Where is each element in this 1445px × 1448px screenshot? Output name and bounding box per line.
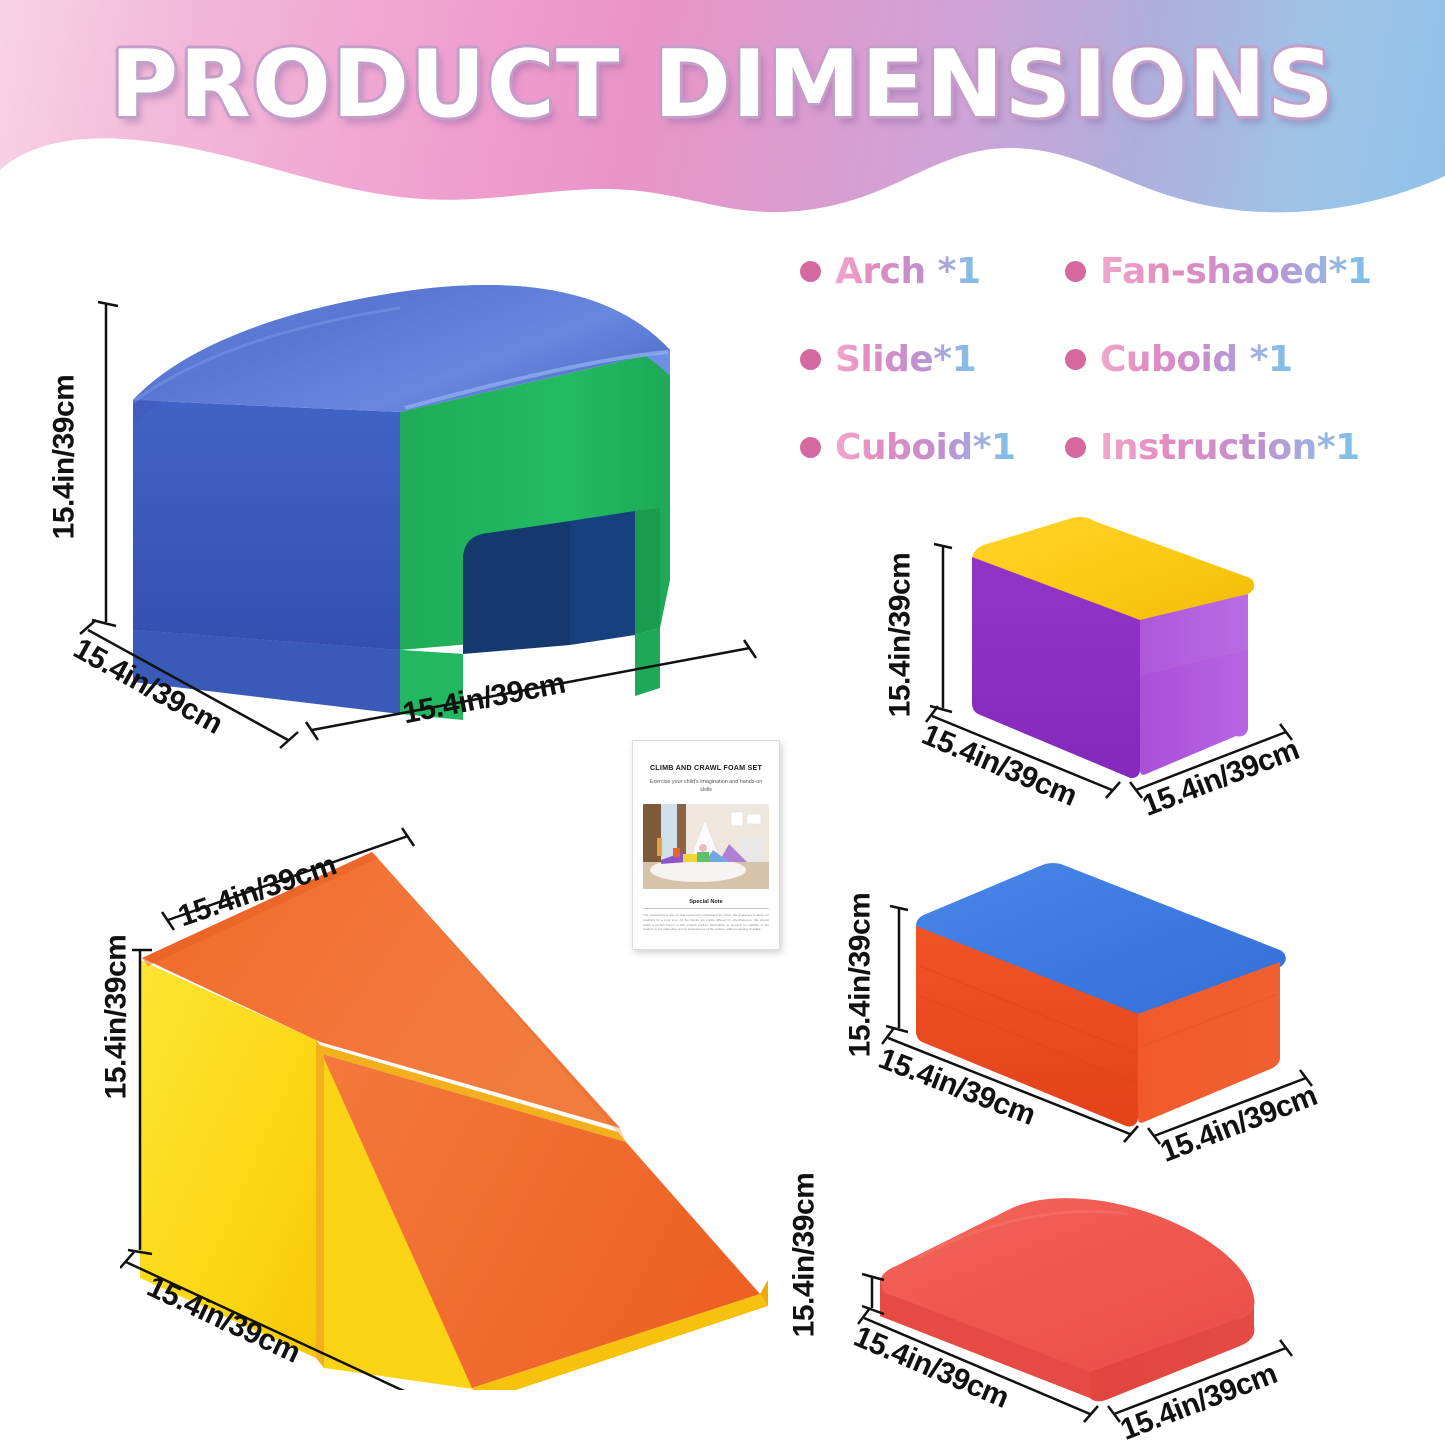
legend-item-slide: Slide*1	[800, 328, 1065, 390]
product-cuboid-purple: 15.4in/39cm 15.4in/39cm 15.4in/39cm	[890, 500, 1350, 830]
legend-item-fan-shaped: Fan-shaoed*1	[1065, 240, 1400, 302]
bullet-icon	[800, 261, 821, 282]
product-arch: 15.4in/39cm 15.4in/39cm 15.4in/39cm	[70, 230, 770, 760]
legend-item-label: Cuboid*1	[835, 427, 1016, 468]
product-cuboid-orange: 15.4in/39cm 15.4in/39cm 15.4in/39cm	[848, 846, 1338, 1176]
product-slide: 15.4in/39cm 15.4in/39cm 15.4in/39cm	[120, 810, 780, 1390]
legend-item-instruction: Instruction*1	[1065, 416, 1400, 478]
product-fan-shaped: 15.4in/39cm 15.4in/39cm 15.4in/39cm	[818, 1176, 1418, 1430]
booklet-subtitle: Exercise your child's imagination and ha…	[647, 779, 765, 795]
dimension-label-height: 15.4in/39cm	[843, 893, 877, 1058]
legend-item-cuboid-a: Cuboid *1	[1065, 328, 1400, 390]
legend-item-arch: Arch *1	[800, 240, 1065, 302]
legend-item-label: Fan-shaoed*1	[1100, 251, 1372, 292]
legend-item-label: Instruction*1	[1100, 427, 1360, 468]
bullet-icon	[1065, 261, 1086, 282]
legend-row: Cuboid*1 Instruction*1	[800, 416, 1400, 478]
dimension-label-height: 15.4in/39cm	[47, 375, 81, 540]
arch-dimension-lines	[70, 230, 770, 760]
booklet-title: CLIMB AND CRAWL FOAM SET	[643, 763, 769, 772]
page-title: PRODUCT DIMENSIONS	[0, 30, 1445, 138]
legend-list: Arch *1 Fan-shaoed*1 Slide*1 Cuboid *1 C…	[800, 240, 1400, 455]
dimension-label-height: 15.4in/39cm	[99, 935, 133, 1100]
bullet-icon	[800, 437, 821, 458]
dimension-label-height: 15.4in/39cm	[787, 1173, 821, 1338]
legend-row: Arch *1 Fan-shaoed*1	[800, 240, 1400, 302]
legend-row: Slide*1 Cuboid *1	[800, 328, 1400, 390]
cuboid-purple-dimension-lines	[890, 500, 1350, 830]
header-banner: PRODUCT DIMENSIONS	[0, 0, 1445, 232]
bullet-icon	[1065, 437, 1086, 458]
legend-item-label: Cuboid *1	[1100, 339, 1293, 380]
fan-shaped-dimension-lines	[818, 1176, 1418, 1430]
legend-item-label: Arch *1	[835, 251, 981, 292]
legend-item-label: Slide*1	[835, 339, 976, 380]
bullet-icon	[1065, 349, 1086, 370]
dimension-label-height: 15.4in/39cm	[883, 553, 917, 718]
legend-item-cuboid-b: Cuboid*1	[800, 416, 1065, 478]
bullet-icon	[800, 349, 821, 370]
